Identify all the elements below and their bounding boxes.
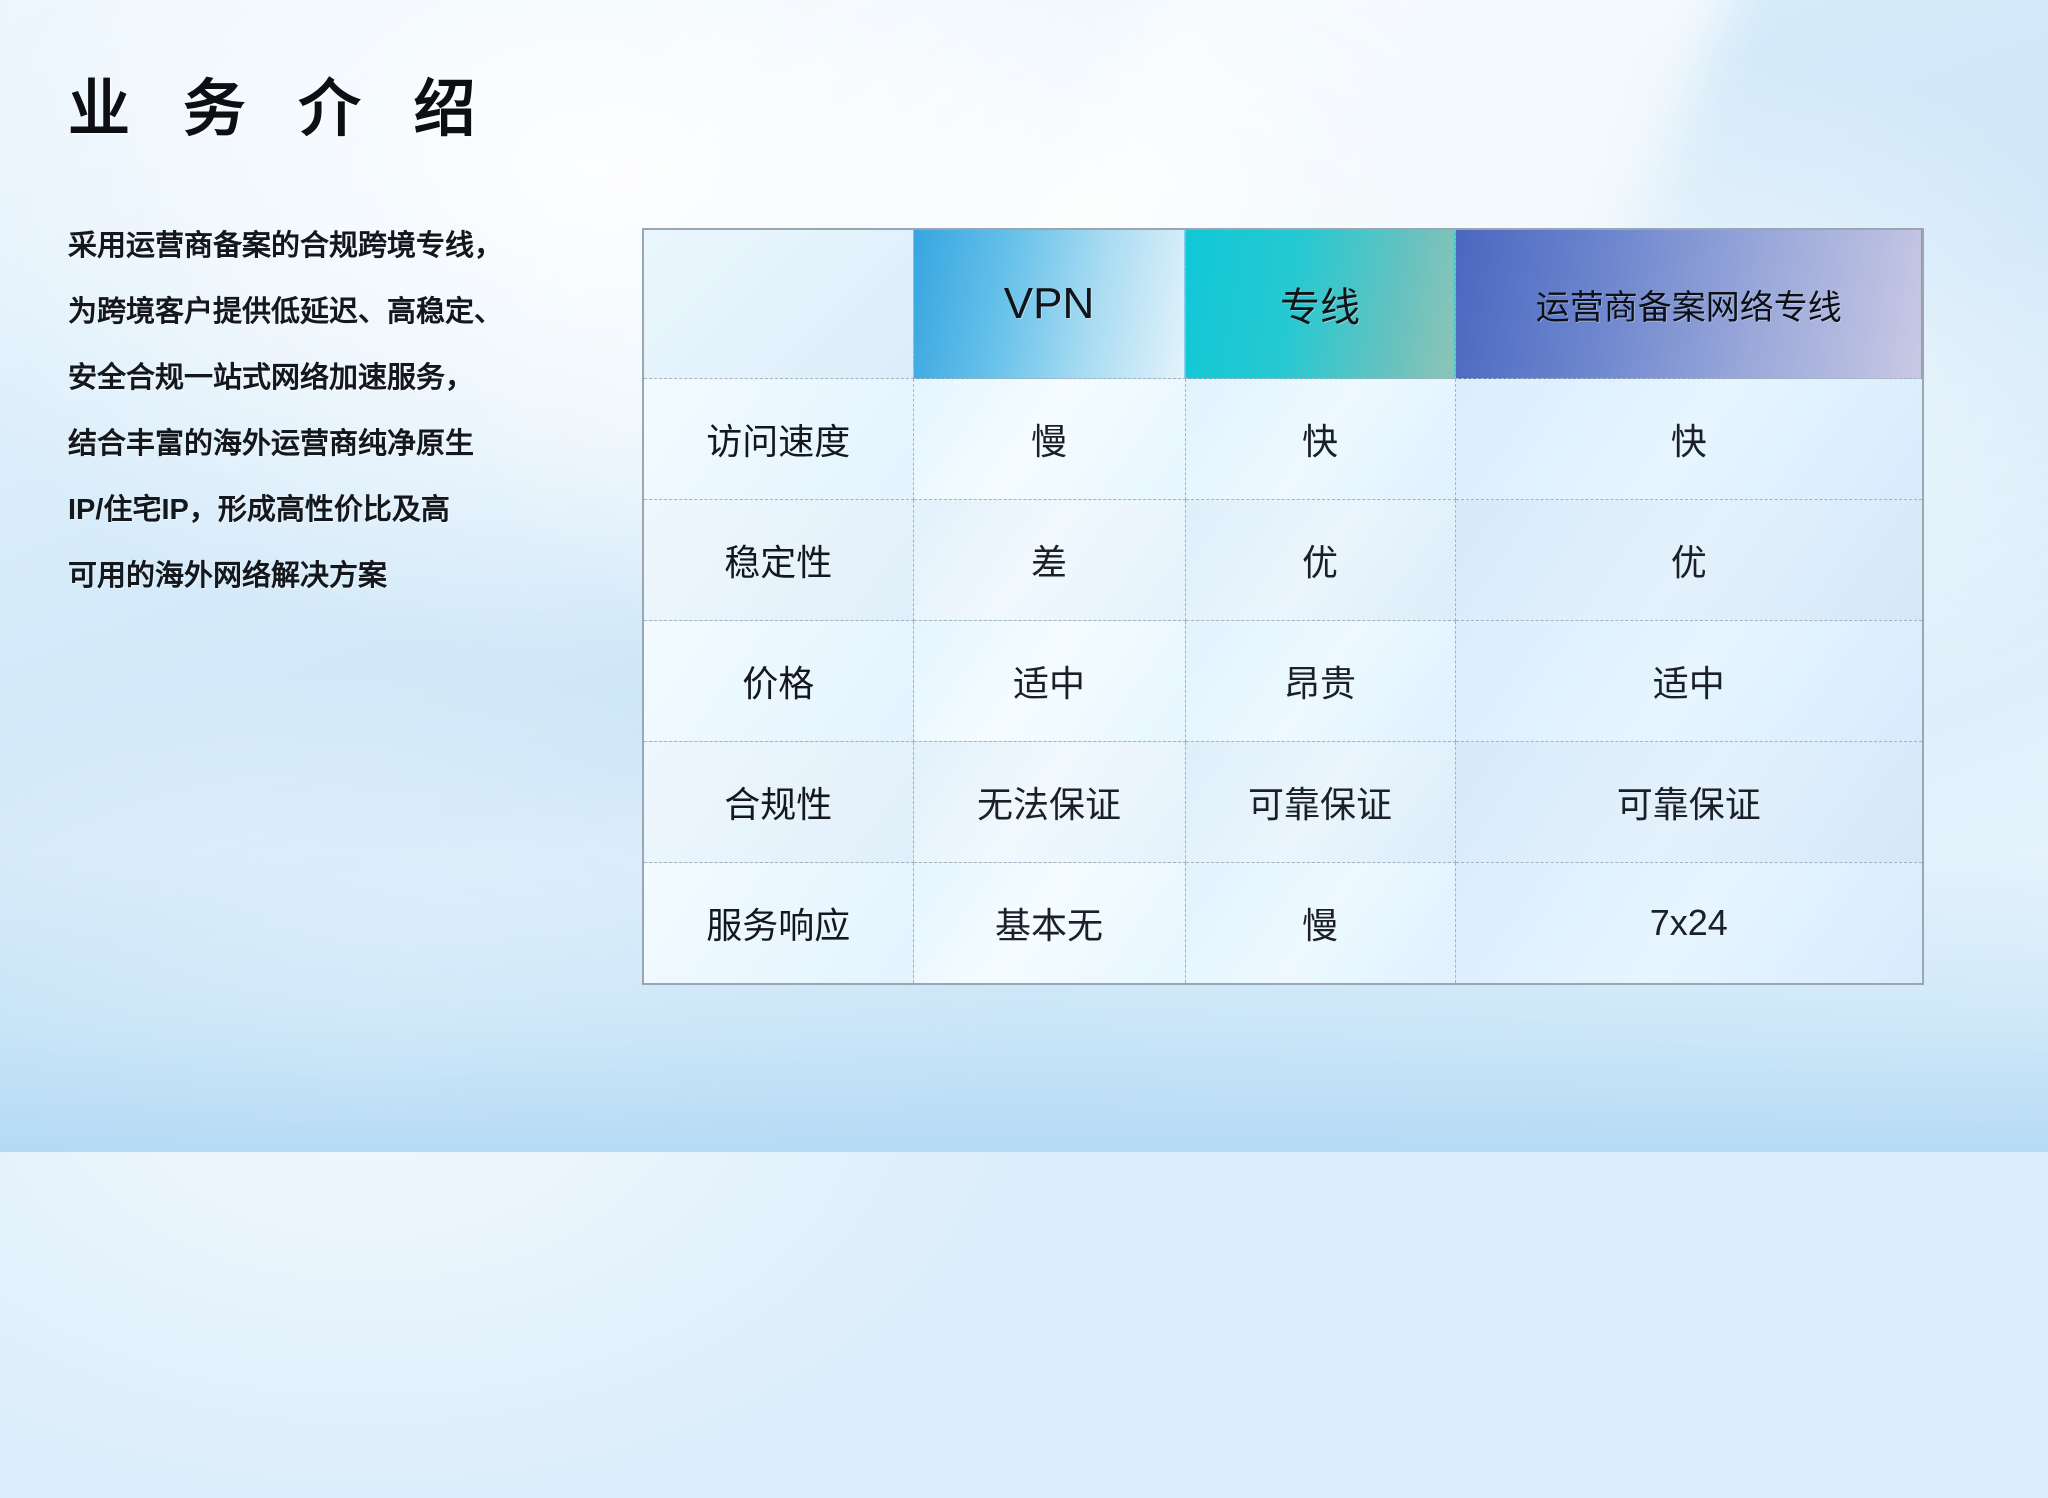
cell-compliance-carrier: 可靠保证 bbox=[1455, 742, 1923, 863]
cell-access-speed-carrier: 快 bbox=[1455, 379, 1923, 500]
cell-stability-line: 优 bbox=[1185, 500, 1455, 621]
cell-access-speed-line: 快 bbox=[1185, 379, 1455, 500]
cell-price-vpn: 适中 bbox=[913, 621, 1185, 742]
comparison-table: VPN 专线 运营商备案网络专线 访问速度 慢 快 快 稳定性 差 优 优 价格… bbox=[642, 228, 1924, 985]
row-label-stability: 稳定性 bbox=[643, 500, 913, 621]
table-header-dedicated-line: 专线 bbox=[1185, 229, 1455, 379]
intro-line: 采用运营商备案的合规跨境专线， bbox=[68, 232, 628, 261]
intro-line: IP/住宅IP，形成高性价比及高 bbox=[68, 496, 628, 525]
table-row: 合规性 无法保证 可靠保证 可靠保证 bbox=[643, 742, 1923, 863]
cell-access-speed-vpn: 慢 bbox=[913, 379, 1185, 500]
row-label-compliance: 合规性 bbox=[643, 742, 913, 863]
table-header-vpn: VPN bbox=[913, 229, 1185, 379]
row-label-service-response: 服务响应 bbox=[643, 863, 913, 985]
intro-line: 为跨境客户提供低延迟、高稳定、 bbox=[68, 298, 628, 327]
table-header-row: VPN 专线 运营商备案网络专线 bbox=[643, 229, 1923, 379]
table-row: 服务响应 基本无 慢 7x24 bbox=[643, 863, 1923, 985]
cell-price-carrier: 适中 bbox=[1455, 621, 1923, 742]
cell-service-response-carrier: 7x24 bbox=[1455, 863, 1923, 985]
intro-line: 结合丰富的海外运营商纯净原生 bbox=[68, 430, 628, 459]
page-title: 业 务 介 绍 bbox=[68, 58, 494, 148]
row-label-price: 价格 bbox=[643, 621, 913, 742]
cell-service-response-vpn: 基本无 bbox=[913, 863, 1185, 985]
cell-price-line: 昂贵 bbox=[1185, 621, 1455, 742]
table-header-blank bbox=[643, 229, 913, 379]
cell-service-response-line: 慢 bbox=[1185, 863, 1455, 985]
slide-content: 业 务 介 绍 采用运营商备案的合规跨境专线， 为跨境客户提供低延迟、高稳定、 … bbox=[0, 0, 2048, 1152]
table-header-carrier-filed-line: 运营商备案网络专线 bbox=[1455, 229, 1923, 379]
row-label-access-speed: 访问速度 bbox=[643, 379, 913, 500]
cell-compliance-line: 可靠保证 bbox=[1185, 742, 1455, 863]
intro-line: 可用的海外网络解决方案 bbox=[68, 562, 628, 591]
table-row: 访问速度 慢 快 快 bbox=[643, 379, 1923, 500]
table-row: 价格 适中 昂贵 适中 bbox=[643, 621, 1923, 742]
intro-line: 安全合规一站式网络加速服务， bbox=[68, 364, 628, 393]
cell-compliance-vpn: 无法保证 bbox=[913, 742, 1185, 863]
cell-stability-carrier: 优 bbox=[1455, 500, 1923, 621]
intro-paragraph: 采用运营商备案的合规跨境专线， 为跨境客户提供低延迟、高稳定、 安全合规一站式网… bbox=[68, 232, 628, 628]
cell-stability-vpn: 差 bbox=[913, 500, 1185, 621]
table-row: 稳定性 差 优 优 bbox=[643, 500, 1923, 621]
